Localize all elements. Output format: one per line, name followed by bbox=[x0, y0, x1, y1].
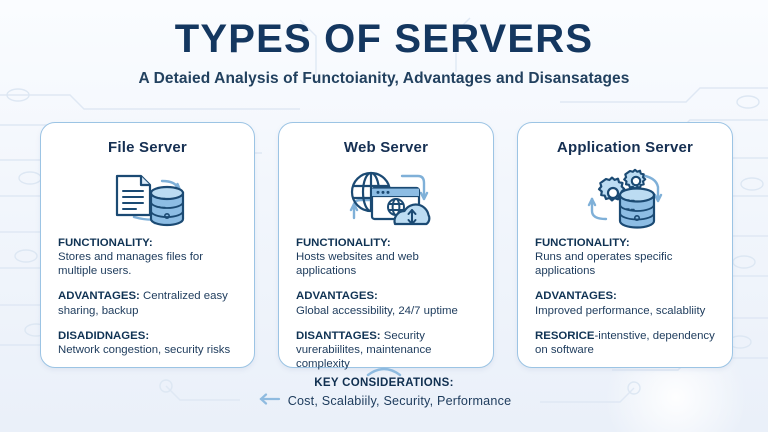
page-title: TYPES OF SERVERS bbox=[0, 18, 768, 61]
gears-database-sync-icon bbox=[518, 162, 732, 236]
card-title: Application Server bbox=[518, 139, 732, 156]
section-text: Global accessibility, 24/7 uptime bbox=[296, 305, 458, 317]
section-functionality: FUNCTIONALITY: Stores and manages files … bbox=[58, 236, 237, 278]
globe-browser-cloud-icon bbox=[279, 162, 493, 236]
infographic-canvas: TYPES OF SERVERS A Detaied Analysis of F… bbox=[0, 0, 768, 432]
section-label: RESORICE bbox=[535, 330, 595, 342]
section-label: ADVANTAGES: bbox=[296, 290, 378, 302]
section-label: FUNCTIONALITY: bbox=[535, 237, 630, 249]
key-considerations-text: Cost, Scalabiily, Security, Performance bbox=[288, 394, 512, 408]
section-label: ADVANTAGES: bbox=[535, 290, 617, 302]
section-label: ADVANTAGES: bbox=[58, 290, 140, 302]
section-text: Improved performance, scalabliity bbox=[535, 305, 705, 317]
card-body: FUNCTIONALITY: Hosts websites and web ap… bbox=[279, 236, 493, 371]
card-body: FUNCTIONALITY: Stores and manages files … bbox=[41, 236, 254, 357]
card-file-server[interactable]: File Server bbox=[40, 122, 255, 368]
section-label: FUNCTIONALITY: bbox=[296, 237, 391, 249]
section-label: DISADIDNAGES: bbox=[58, 330, 149, 342]
arrow-left-icon bbox=[257, 392, 281, 410]
card-application-server[interactable]: Application Server bbox=[517, 122, 733, 368]
section-label: FUNCTIONALITY: bbox=[58, 237, 153, 249]
section-text: Network congestion, security risks bbox=[58, 344, 230, 356]
section-text: Hosts websites and web applications bbox=[296, 251, 419, 277]
card-title: Web Server bbox=[279, 139, 493, 156]
section-text: Runs and operates specific applications bbox=[535, 251, 672, 277]
card-body: FUNCTIONALITY: Runs and operates specifi… bbox=[518, 236, 732, 357]
section-label: DISANTTAGES: bbox=[296, 330, 381, 342]
card-web-server[interactable]: Web Server bbox=[278, 122, 494, 368]
section-advantages: ADVANTAGES: Global accessibility, 24/7 u… bbox=[296, 289, 476, 317]
section-functionality: FUNCTIONALITY: Runs and operates specifi… bbox=[535, 236, 715, 278]
key-considerations-label: KEY CONSIDERATIONS: bbox=[0, 377, 768, 389]
section-advantages: ADVANTAGES: Centralized easy sharing, ba… bbox=[58, 289, 237, 317]
card-title: File Server bbox=[41, 139, 254, 156]
document-database-sync-icon bbox=[41, 162, 254, 236]
page-subtitle: A Detaied Analysis of Functoianity, Adva… bbox=[0, 70, 768, 88]
server-cards-container: File Server bbox=[0, 122, 768, 372]
section-disadvantages: DISADIDNAGES: Network congestion, securi… bbox=[58, 329, 237, 357]
caret-up-icon bbox=[0, 365, 768, 377]
section-text: Stores and manages files for multiple us… bbox=[58, 251, 203, 277]
section-advantages: ADVANTAGES: Improved performance, scalab… bbox=[535, 289, 715, 317]
header: TYPES OF SERVERS A Detaied Analysis of F… bbox=[0, 18, 768, 88]
key-considerations: KEY CONSIDERATIONS: Cost, Scalabiily, Se… bbox=[0, 377, 768, 410]
section-resource: RESORICE-intenstive, dependency on softw… bbox=[535, 329, 715, 357]
section-functionality: FUNCTIONALITY: Hosts websites and web ap… bbox=[296, 236, 476, 278]
